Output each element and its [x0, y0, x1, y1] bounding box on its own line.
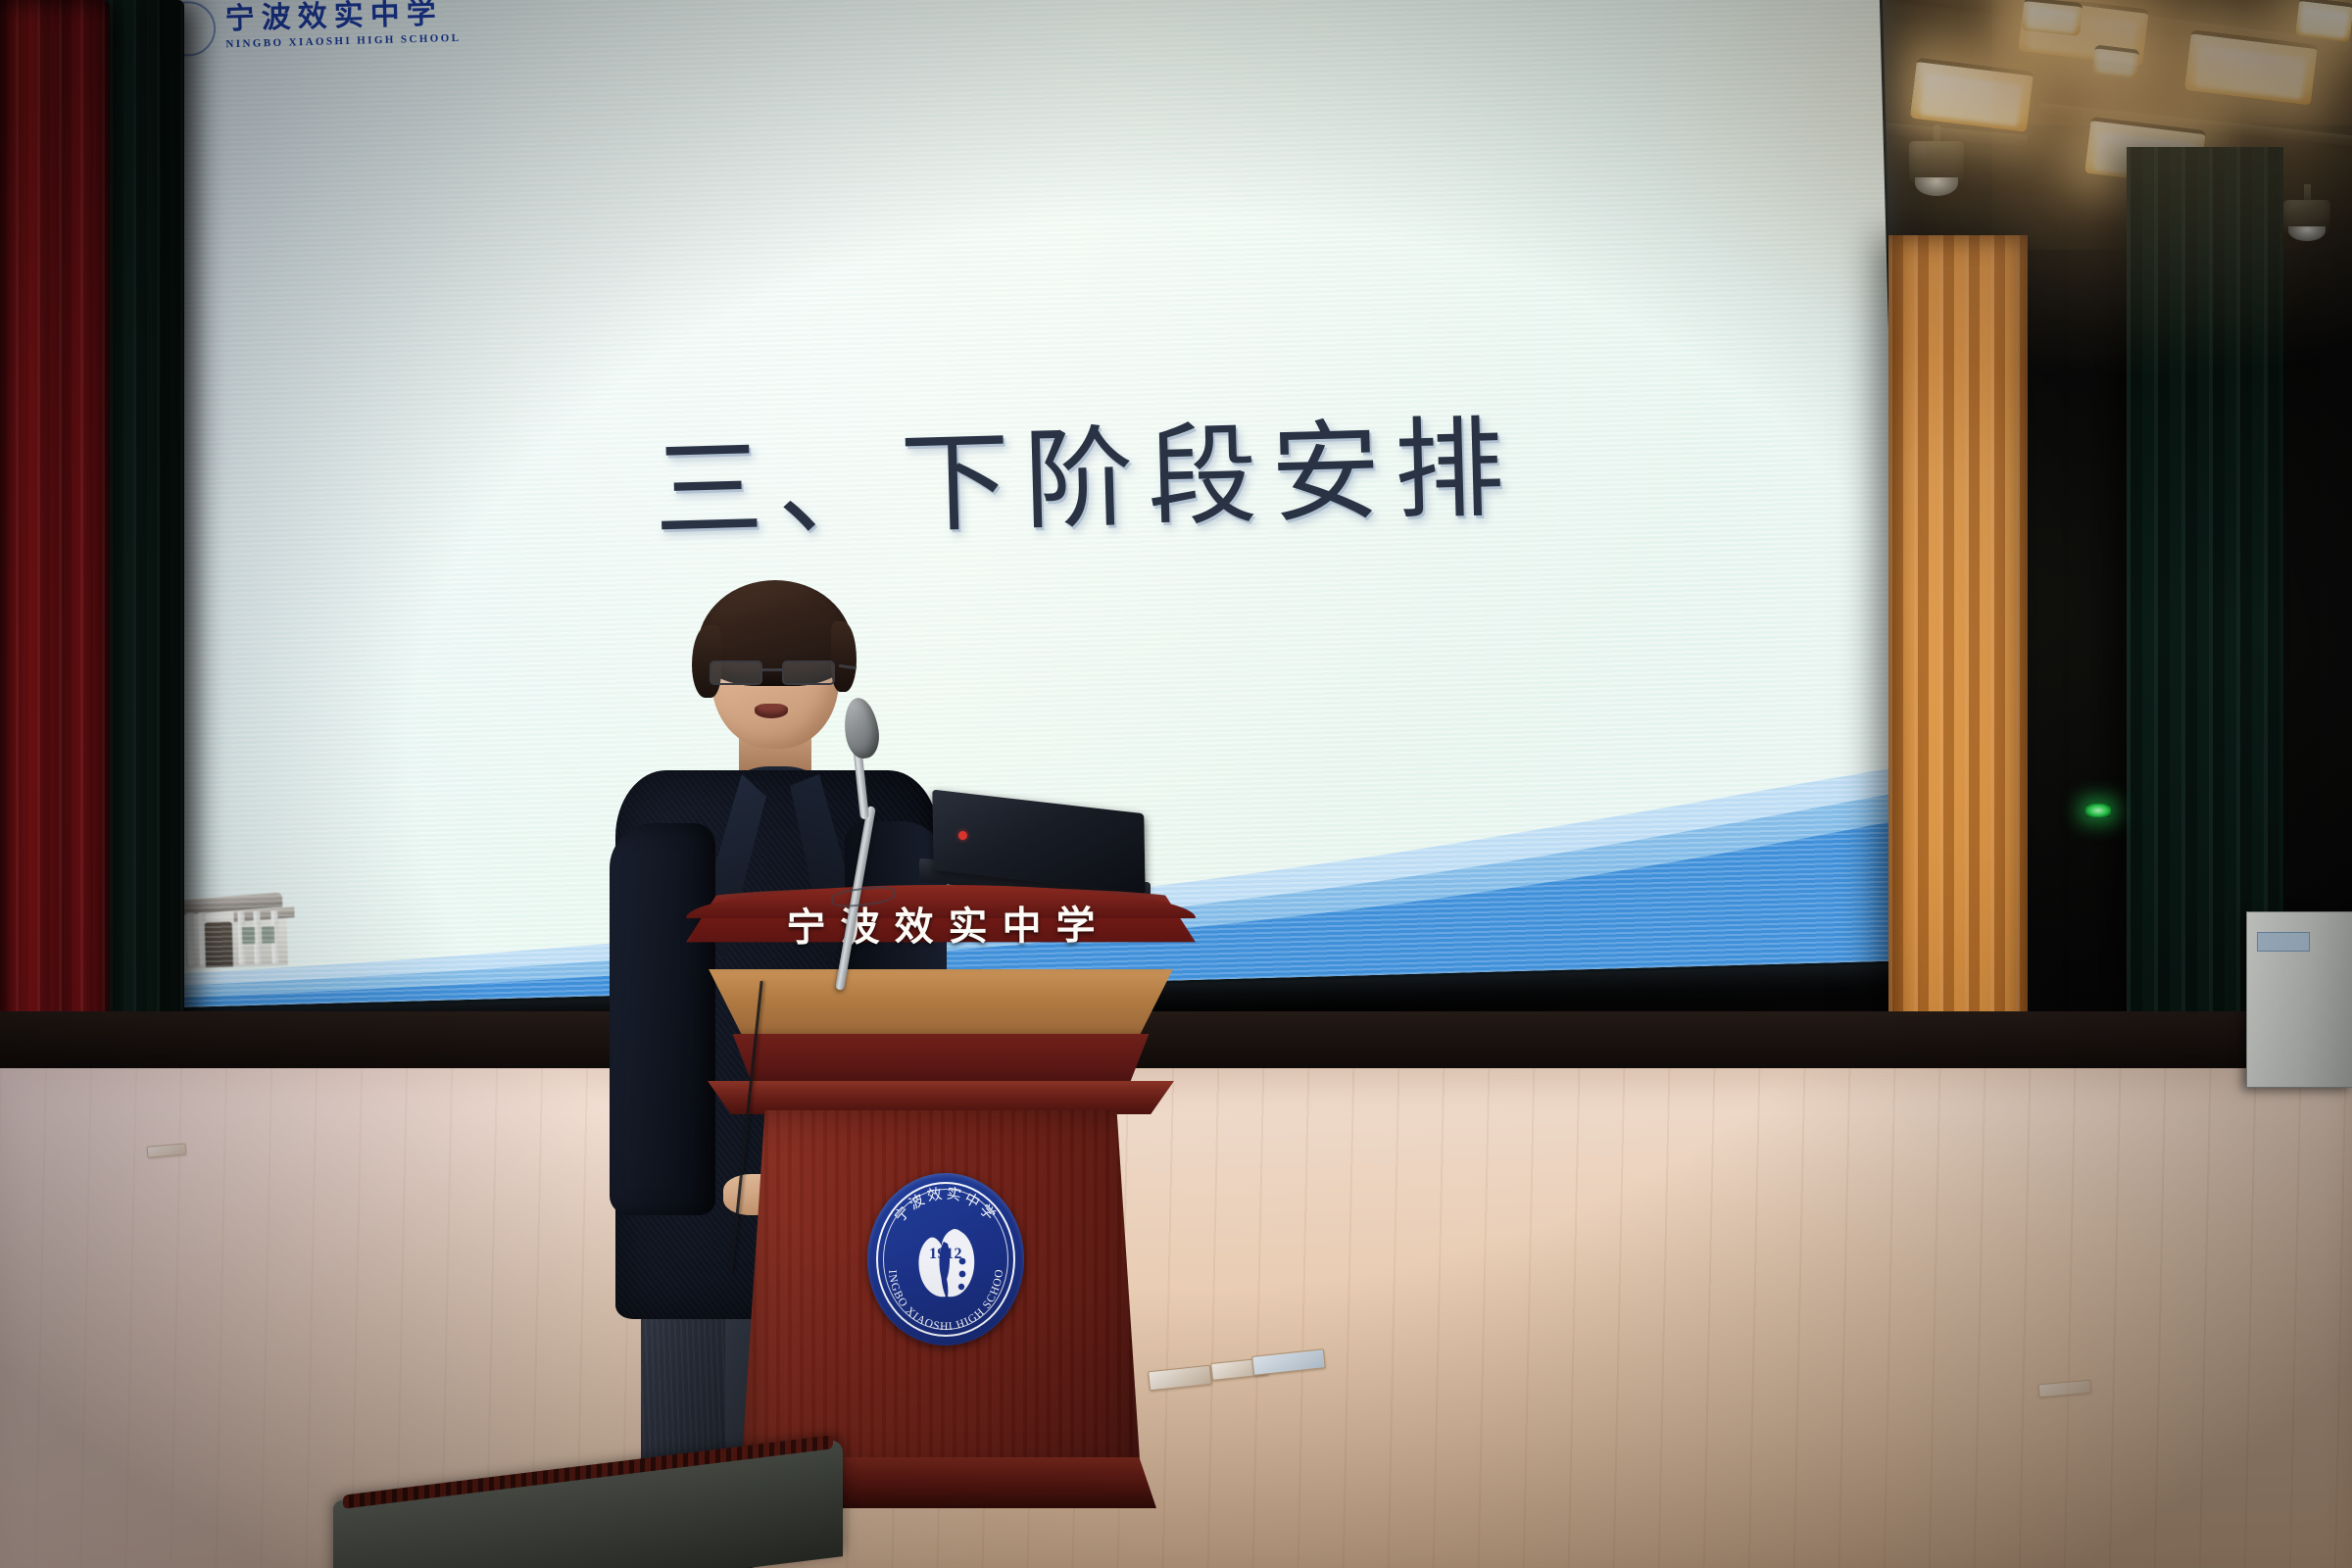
lectern-ledge: [708, 1081, 1174, 1114]
stage-light-fixture: [2283, 184, 2330, 241]
seal-year: 1912: [929, 1246, 962, 1263]
lit-stage-light: [2295, 0, 2352, 42]
presenter-mouth: [755, 704, 788, 718]
green-exit-indicator: [2085, 804, 2111, 817]
school-building-watermark: [176, 887, 304, 976]
cabinet-label: [2257, 932, 2310, 952]
slide-title: 三、下阶段安排: [652, 376, 1636, 562]
lit-stage-light: [2091, 44, 2139, 78]
lit-stage-light: [2021, 0, 2082, 36]
school-seal-icon: NINGBO XIAOSHI HIGH SCHOOL 宁波效实中学 1912: [867, 1173, 1024, 1346]
lectern-nameplate: 宁波效实中学: [686, 893, 1196, 954]
slide-school-logo: 宁波效实中学 NINGBO XIAOSHI HIGH SCHOOL: [160, 0, 461, 57]
slide-logo-cn: 宁波效实中学: [224, 0, 461, 34]
equipment-cabinet: [2246, 911, 2352, 1088]
stage-light-fixture: [1909, 125, 1964, 196]
lectern-gold-band: [694, 969, 1188, 1038]
stage-scene: 宁波效实中学 NINGBO XIAOSHI HIGH SCHOOL 三、下阶段安…: [0, 0, 2352, 1568]
glasses-icon: [710, 661, 843, 686]
